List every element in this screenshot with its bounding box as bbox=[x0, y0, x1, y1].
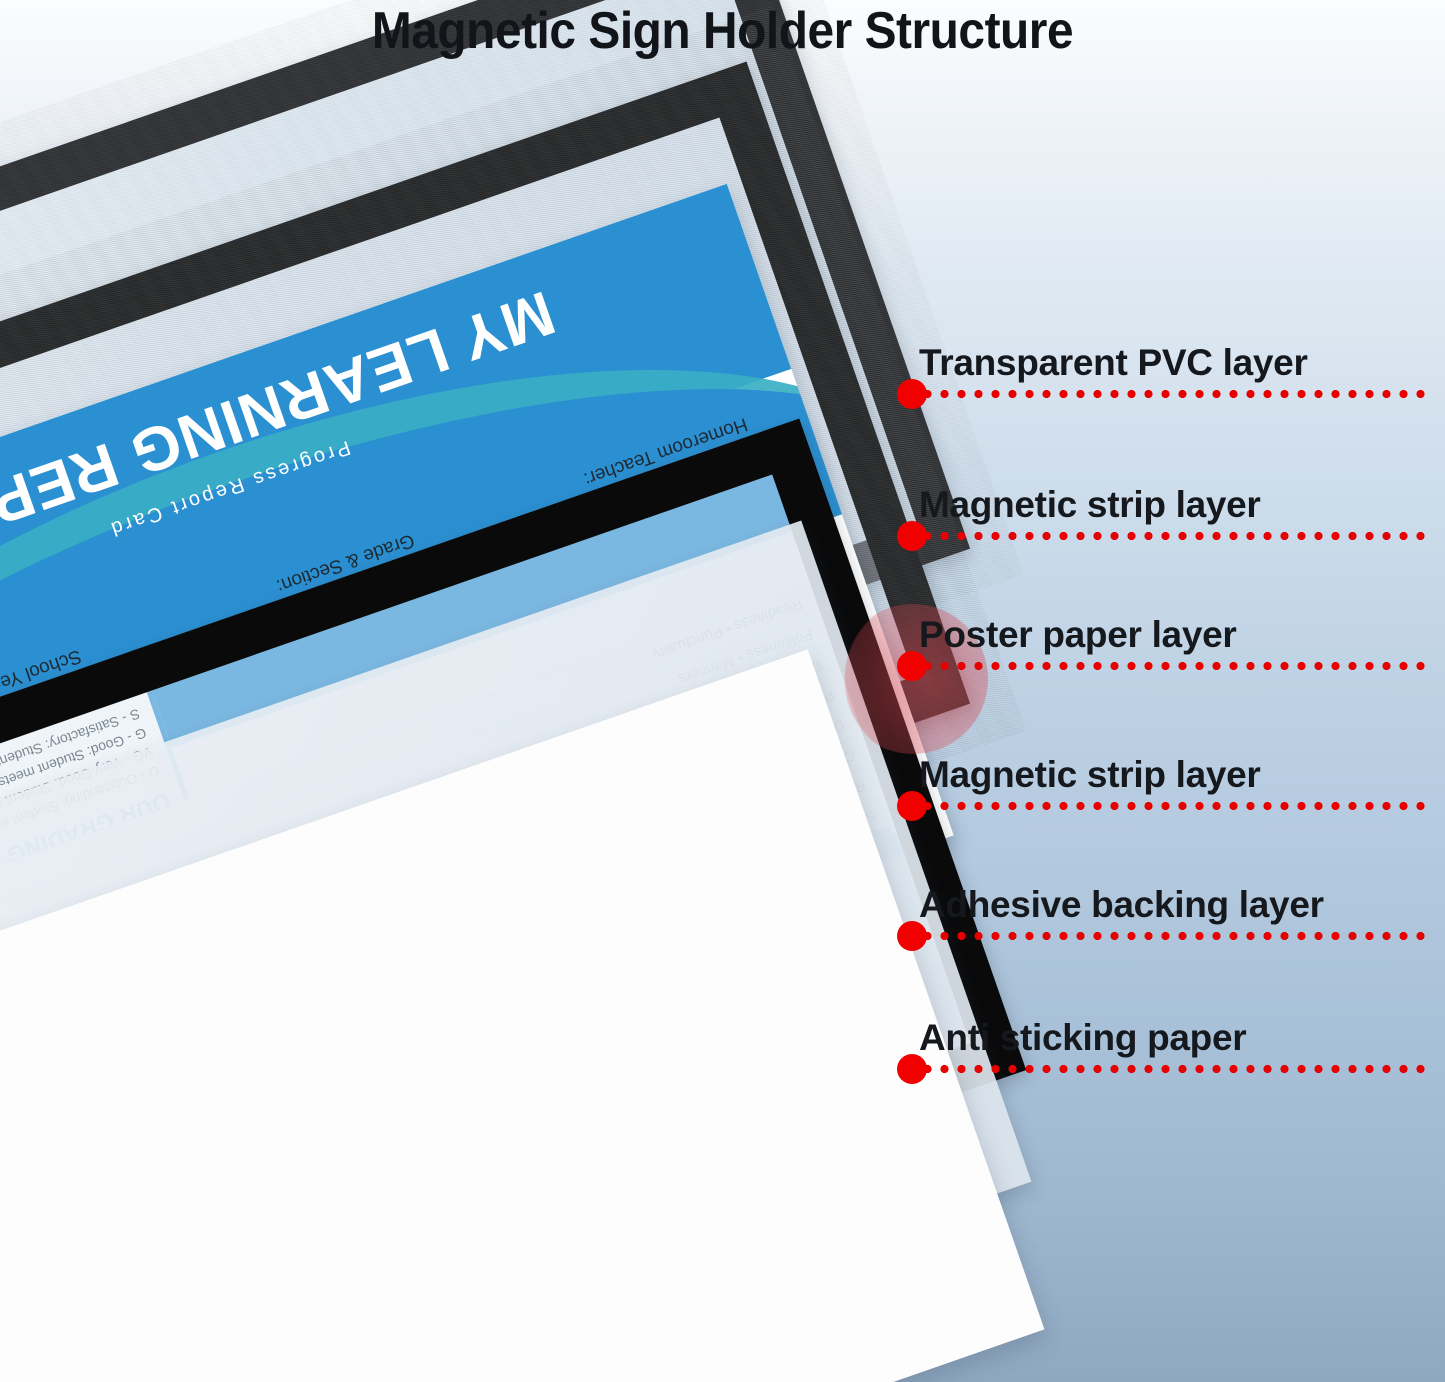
callout-dot bbox=[897, 921, 927, 951]
callout-label: Adhesive backing layer bbox=[919, 884, 1324, 926]
callout-magnetic-strip-bottom: Magnetic strip layer bbox=[919, 742, 1429, 810]
callout-dot bbox=[897, 379, 927, 409]
callout-label: Poster paper layer bbox=[919, 614, 1236, 656]
callout-dot bbox=[897, 521, 927, 551]
callout-poster-paper: Poster paper layer bbox=[919, 602, 1429, 670]
callout-dot bbox=[897, 651, 927, 681]
leader-line bbox=[919, 390, 1429, 398]
callout-anti-sticking-paper: Anti sticking paper bbox=[919, 1005, 1429, 1073]
leader-line bbox=[919, 932, 1429, 940]
callout-label: Magnetic strip layer bbox=[919, 754, 1261, 796]
callout-dot bbox=[897, 1054, 927, 1084]
callout-label: Anti sticking paper bbox=[919, 1017, 1246, 1059]
callout-group: Transparent PVC layer Magnetic strip lay… bbox=[0, 0, 1445, 1382]
leader-line bbox=[919, 662, 1429, 670]
callout-magnetic-strip-top: Magnetic strip layer bbox=[919, 472, 1429, 540]
infographic-canvas: Magnetic Sign Holder Structure MY LEARNI… bbox=[0, 0, 1445, 1382]
leader-line bbox=[919, 1065, 1429, 1073]
leader-line bbox=[919, 532, 1429, 540]
callout-transparent-pvc: Transparent PVC layer bbox=[919, 330, 1429, 398]
page-title: Magnetic Sign Holder Structure bbox=[58, 0, 1387, 62]
callout-label: Magnetic strip layer bbox=[919, 484, 1261, 526]
callout-label: Transparent PVC layer bbox=[919, 342, 1308, 384]
leader-line bbox=[919, 802, 1429, 810]
callout-dot bbox=[897, 791, 927, 821]
callout-adhesive-backing: Adhesive backing layer bbox=[919, 872, 1429, 940]
